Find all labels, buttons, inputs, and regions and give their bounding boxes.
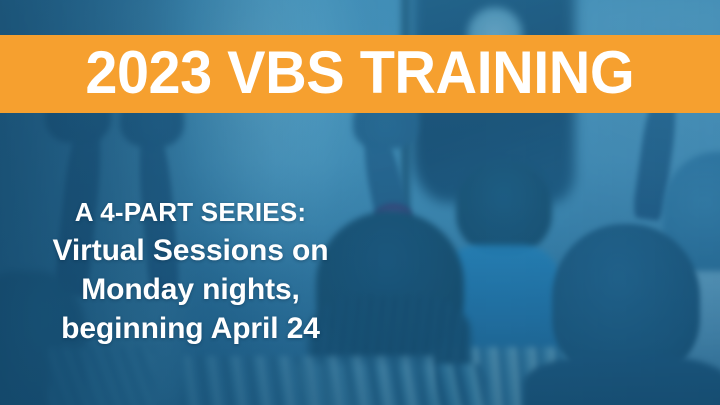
subtitle-line-series: A 4-PART SERIES: bbox=[18, 198, 363, 227]
subtitle-line-monday-nights: Monday nights, bbox=[18, 270, 363, 309]
subtitle-line-virtual-sessions: Virtual Sessions on bbox=[18, 231, 363, 270]
banner-title: 2023 VBS TRAINING bbox=[86, 43, 635, 106]
title-band: 2023 VBS TRAINING bbox=[0, 35, 720, 113]
subtitle-line-beginning-date: beginning April 24 bbox=[18, 309, 363, 348]
subtitle-block: A 4-PART SERIES: Virtual Sessions on Mon… bbox=[18, 198, 363, 348]
vbs-training-banner: 2023 VBS TRAINING A 4-PART SERIES: Virtu… bbox=[0, 0, 720, 405]
